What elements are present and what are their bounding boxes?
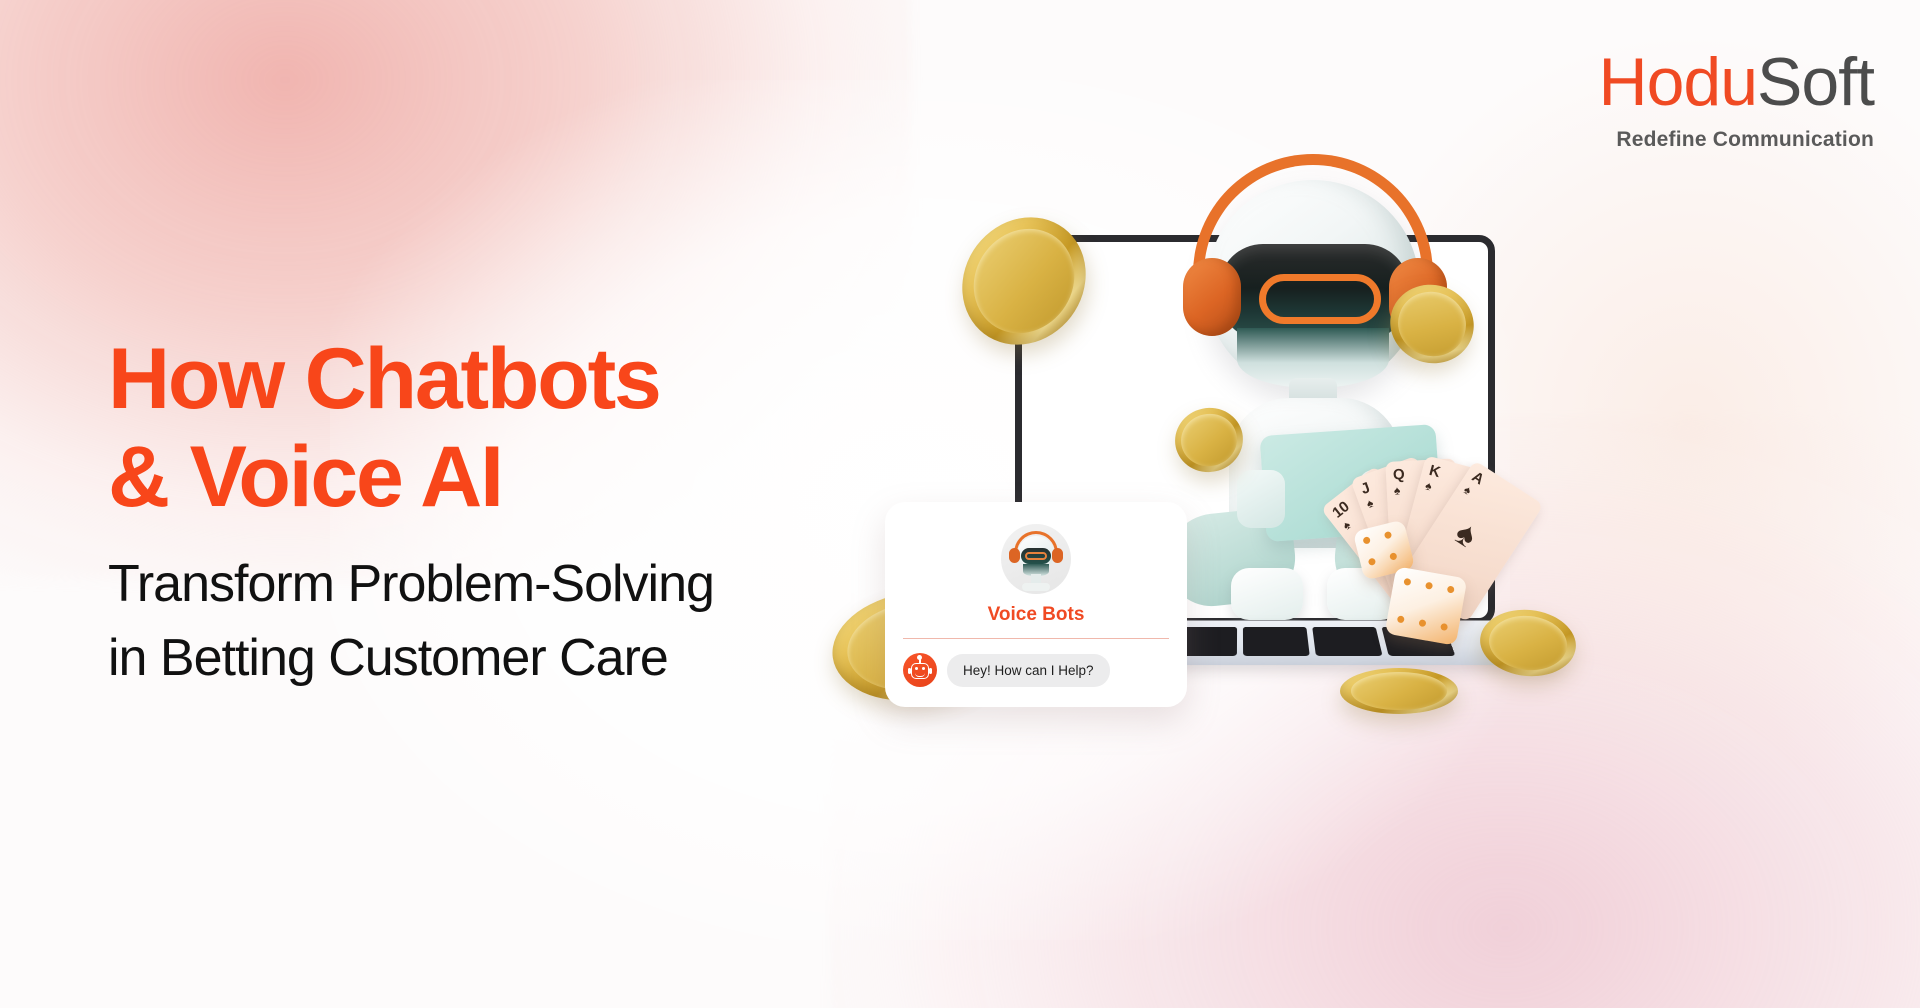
banner-canvas: HoduSoft Redefine Communication How Chat… (0, 0, 1920, 1008)
hero-illustration: 10 ♠ J ♠ Q ♠ K ♠ A ♠ ♠ (960, 120, 1920, 900)
robot-hand-left (1237, 470, 1285, 528)
headline-line-1: How Chatbots (108, 330, 938, 428)
robot-face-icon (903, 653, 937, 687)
logo-text-soft: Soft (1757, 44, 1874, 120)
robot-foot-left (1231, 568, 1303, 620)
chat-message-row: Hey! How can I Help? (903, 653, 1169, 687)
card-rank: Q (1393, 466, 1406, 484)
subheadline-line-1: Transform Problem-Solving (108, 548, 938, 622)
robot-headset-icon (1001, 524, 1071, 594)
headline-line-2: & Voice AI (108, 428, 938, 526)
logo-text-hodu: Hodu (1598, 44, 1757, 120)
subheadline-line-2: in Betting Customer Care (108, 622, 938, 696)
gold-coin (1340, 668, 1458, 714)
chat-card-title: Voice Bots (903, 604, 1169, 626)
chat-card-divider (903, 638, 1169, 639)
subheadline-block: Transform Problem-Solving in Betting Cus… (108, 548, 938, 696)
dice (1385, 566, 1468, 645)
spade-icon-large: ♠ (1448, 515, 1483, 555)
chat-message-bubble: Hey! How can I Help? (947, 654, 1110, 687)
voice-bot-chat-card[interactable]: Voice Bots Hey! How can I Help? (885, 502, 1187, 707)
headphone-cup-left-icon (1183, 258, 1241, 336)
headline-block: How Chatbots & Voice AI Transform Proble… (108, 330, 938, 696)
card-rank: J (1359, 479, 1373, 498)
logo-wordmark: HoduSoft (1598, 48, 1874, 116)
